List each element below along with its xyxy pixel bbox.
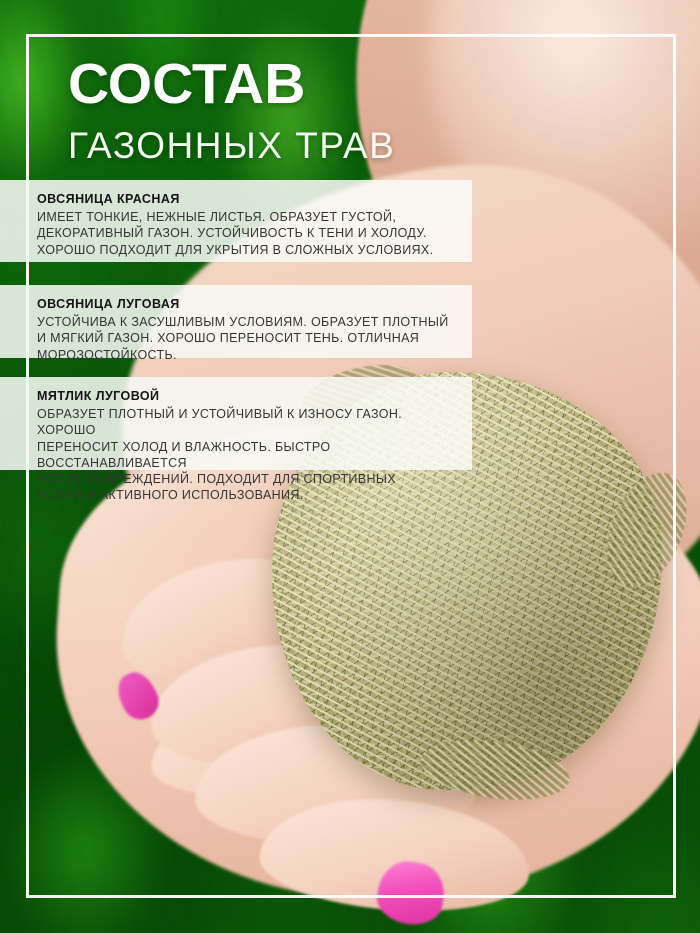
page-title: СОСТАВ ГАЗОННЫХ ТРАВ (68, 56, 588, 164)
info-panel-heading: МЯТЛИК ЛУГОВОЙ (37, 389, 454, 403)
info-panel-heading: ОВСЯНИЦА КРАСНАЯ (37, 192, 454, 206)
info-panel-body: УСТОЙЧИВА К ЗАСУШЛИВЫМ УСЛОВИЯМ. ОБРАЗУЕ… (37, 314, 454, 363)
title-subtitle: ГАЗОННЫХ ТРАВ (68, 127, 588, 164)
info-panel-body: ОБРАЗУЕТ ПЛОТНЫЙ И УСТОЙЧИВЫЙ К ИЗНОСУ Г… (37, 406, 454, 504)
info-panel-festuca-rubra: ОВСЯНИЦА КРАСНАЯ ИМЕЕТ ТОНКИЕ, НЕЖНЫЕ ЛИ… (0, 180, 472, 262)
info-panel-body: ИМЕЕТ ТОНКИЕ, НЕЖНЫЕ ЛИСТЬЯ. ОБРАЗУЕТ ГУ… (37, 209, 454, 258)
info-panel-festuca-pratensis: ОВСЯНИЦА ЛУГОВАЯ УСТОЙЧИВА К ЗАСУШЛИВЫМ … (0, 285, 472, 358)
poster-canvas: СОСТАВ ГАЗОННЫХ ТРАВ ОВСЯНИЦА КРАСНАЯ ИМ… (0, 0, 700, 933)
title-main: СОСТАВ (68, 56, 588, 113)
info-panel-heading: ОВСЯНИЦА ЛУГОВАЯ (37, 297, 454, 311)
info-panel-poa-pratensis: МЯТЛИК ЛУГОВОЙ ОБРАЗУЕТ ПЛОТНЫЙ И УСТОЙЧ… (0, 377, 472, 470)
